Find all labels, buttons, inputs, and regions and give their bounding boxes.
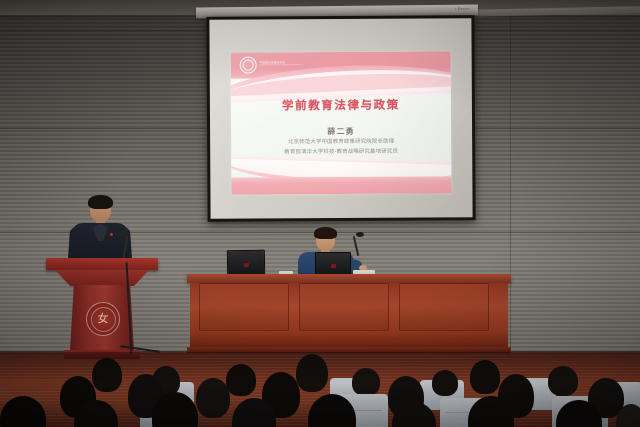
- table-panel: [399, 283, 489, 331]
- slide-affiliation-line-2: 教育部清华大学科技-教育战略研究基地研究员: [284, 148, 398, 157]
- podium-microphone-icon: [119, 232, 126, 237]
- lecture-hall-photo: i-Electric 中国教育政策研究院 CHINA INSTITUTE OF …: [0, 0, 640, 427]
- audience-head: [226, 364, 256, 396]
- slide-presenter: 薛二勇: [327, 126, 355, 137]
- audience-head: [0, 396, 46, 427]
- table-top: [187, 274, 511, 283]
- audience-head: [432, 370, 458, 396]
- host-hair: [314, 227, 337, 239]
- laptop-right: [315, 252, 349, 275]
- standing-speaker: [62, 197, 138, 263]
- speaker-hair: [88, 195, 113, 209]
- podium-top: [46, 258, 158, 270]
- podium: 女: [46, 258, 158, 360]
- audience: [0, 352, 640, 427]
- slide-affiliation-line-1: 北京师范大学中国教育政策研究院院长助理: [288, 139, 394, 147]
- audience-head: [470, 360, 500, 394]
- table-panel: [199, 283, 289, 331]
- roller-label: i-Electric: [455, 7, 470, 11]
- logo-english-name: CHINA INSTITUTE OF EDUCATION POLICY: [260, 66, 303, 68]
- audience-head: [92, 358, 122, 392]
- projection-screen: 中国教育政策研究院 CHINA INSTITUTE OF EDUCATION P…: [206, 15, 475, 222]
- laptop-left: [227, 250, 263, 276]
- lapel-pin-icon: [110, 233, 113, 236]
- presentation-slide: 中国教育政策研究院 CHINA INSTITUTE OF EDUCATION P…: [231, 51, 452, 194]
- institute-logo: 中国教育政策研究院 CHINA INSTITUTE OF EDUCATION P…: [240, 56, 304, 73]
- screen-surface: 中国教育政策研究院 CHINA INSTITUTE OF EDUCATION P…: [209, 18, 472, 219]
- audience-head: [352, 368, 380, 396]
- desk-microphone-icon: [356, 232, 364, 237]
- podium-neck: [55, 270, 149, 286]
- podium-emblem: 女: [86, 302, 120, 336]
- institute-seal-icon: [240, 57, 257, 74]
- table-panel: [299, 283, 389, 331]
- slide-title: 学前教育法律与政策: [282, 97, 400, 114]
- slide-bottom-band: [231, 176, 451, 194]
- audience-head: [196, 378, 230, 418]
- audience-head: [296, 354, 328, 392]
- emblem-glyph: 女: [98, 314, 109, 325]
- head-table: [187, 274, 511, 356]
- audience-head: [548, 366, 578, 396]
